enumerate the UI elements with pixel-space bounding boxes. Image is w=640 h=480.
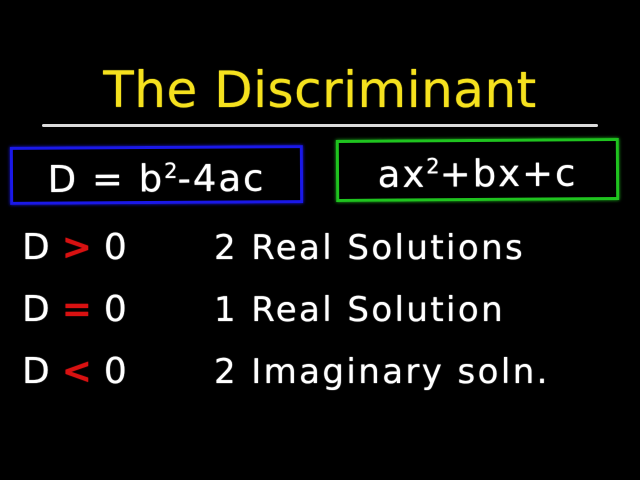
quadratic-formula-tail: +bx+c bbox=[439, 151, 577, 195]
quadratic-formula-exponent: 2 bbox=[426, 154, 440, 178]
discriminant-formula-text: D = b2-4ac bbox=[47, 150, 265, 200]
case-operator: > bbox=[53, 227, 104, 268]
case-result: 1 Real Solution bbox=[214, 286, 505, 334]
case-result: 2 Real Solutions bbox=[214, 224, 525, 272]
case-result: 2 Imaginary soln. bbox=[214, 348, 550, 396]
case-condition: D<0 bbox=[22, 348, 192, 396]
discriminant-formula-exponent: 2 bbox=[164, 159, 178, 183]
case-row: D<0 2 Imaginary soln. bbox=[0, 348, 640, 406]
quadratic-formula-box: ax2+bx+c bbox=[336, 138, 619, 202]
discriminant-formula-box: D = b2-4ac bbox=[10, 145, 303, 205]
case-value: 0 bbox=[104, 351, 130, 392]
case-value: 0 bbox=[104, 289, 130, 330]
case-operator: < bbox=[53, 351, 104, 392]
case-variable: D bbox=[22, 289, 53, 330]
whiteboard-canvas: The Discriminant D = b2-4ac ax2+bx+c D>0… bbox=[0, 0, 640, 480]
quadratic-formula-lead: ax bbox=[378, 153, 427, 196]
case-row: D=0 1 Real Solution bbox=[0, 286, 640, 344]
title-underline-rule bbox=[42, 124, 598, 127]
discriminant-formula-lead: D = b bbox=[47, 157, 164, 201]
quadratic-formula-text: ax2+bx+c bbox=[377, 145, 577, 195]
case-operator: = bbox=[53, 289, 104, 330]
discriminant-formula-tail: -4ac bbox=[177, 156, 265, 200]
case-variable: D bbox=[22, 227, 53, 268]
case-variable: D bbox=[22, 351, 53, 392]
case-condition: D>0 bbox=[22, 224, 192, 272]
page-title: The Discriminant bbox=[0, 62, 640, 118]
case-row: D>0 2 Real Solutions bbox=[0, 224, 640, 282]
case-value: 0 bbox=[104, 227, 130, 268]
case-condition: D=0 bbox=[22, 286, 192, 334]
